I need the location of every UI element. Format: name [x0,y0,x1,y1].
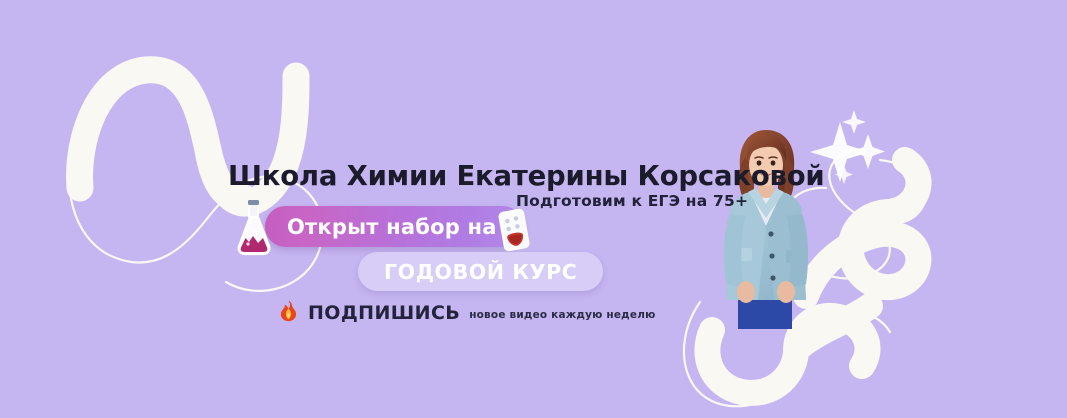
card-icon [497,208,531,252]
subscribe-callout[interactable]: ПОДПИШИСЬ новое видео каждую неделю [278,297,656,324]
annual-course-label: ГОДОВОЙ КУРС [384,260,577,284]
enrollment-open-button[interactable]: Открыт набор на [265,206,523,247]
enrollment-open-label: Открыт набор на [287,215,497,239]
flask-icon [234,198,274,258]
subtitle: Подготовим к ЕГЭ на 75+ [516,192,748,210]
annual-course-button[interactable]: ГОДОВОЙ КУРС [358,252,603,291]
fire-icon [278,300,299,322]
subscribe-label: ПОДПИШИСЬ [308,302,460,324]
banner-content: Школа Химии Екатерины Корсаковой Подгото… [0,0,1067,418]
subscribe-note: новое видео каждую неделю [469,309,655,321]
page-title: Школа Химии Екатерины Корсаковой [228,160,825,192]
course-promo-banner: Школа Химии Екатерины Корсаковой Подгото… [0,0,1067,418]
